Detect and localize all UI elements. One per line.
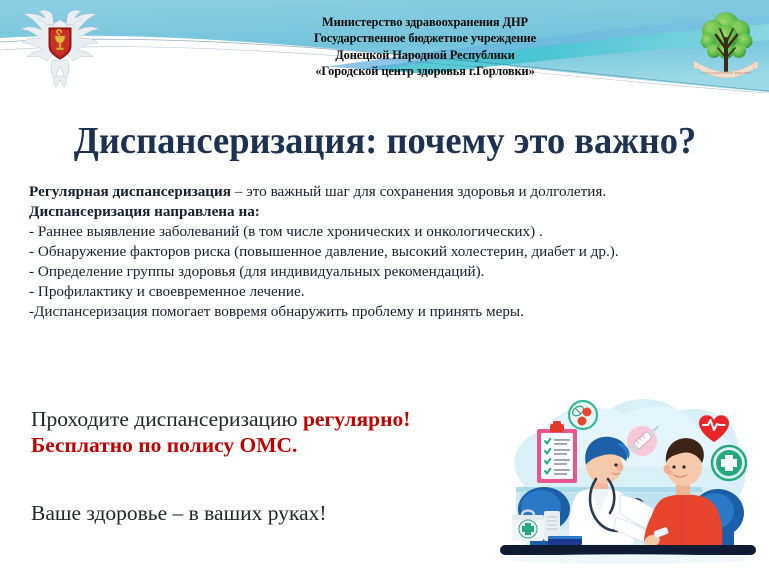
org-line-3: Донецкой Народной Республики [230, 47, 620, 63]
page-title: Диспансеризация: почему это важно? [54, 122, 716, 160]
pills-circle-icon [569, 401, 597, 429]
health-poster: Министерство здравоохранения ДНР Государ… [0, 0, 769, 569]
body-content: Регулярная диспансеризация – это важный … [29, 183, 741, 323]
book-on-desk [548, 538, 582, 545]
body-bullet: -Диспансеризация помогает вовремя обнару… [29, 303, 741, 322]
org-line-1: Министерство здравоохранения ДНР [230, 14, 620, 30]
lead-bold-text: Регулярная диспансеризация [29, 183, 231, 200]
desk-bar [500, 545, 756, 555]
clipboard-checklist-icon [537, 421, 577, 483]
body-bullet: - Определение группы здоровья (для индив… [29, 263, 741, 282]
closing-slogan: Ваше здоровье – в ваших руках! [31, 500, 501, 526]
body-subheading: Диспансеризация направлена на: [29, 203, 741, 222]
cta-line1-highlight: регулярно! [303, 407, 410, 431]
dnr-emblem-double-headed-eagle-logo [12, 4, 108, 90]
body-bullet: - Раннее выявление заболеваний (в том чи… [29, 223, 741, 242]
doctor-examining-patient-illustration [486, 389, 769, 569]
org-line-2: Государственное бюджетное учреждение [230, 30, 620, 46]
body-bullet: - Профилактику и своевременное лечение. [29, 283, 741, 302]
svg-text:ГОРОДСКОЙ ЦЕНТР ЗДОРОВЬЯ: ГОРОДСКОЙ ЦЕНТР ЗДОРОВЬЯ [701, 70, 751, 75]
cta-line-2: Бесплатно по полису ОМС. [31, 432, 501, 458]
organization-title: Министерство здравоохранения ДНР Государ… [230, 14, 620, 80]
green-medical-cross-icon [712, 446, 746, 480]
cta-line-1: Проходите диспансеризацию регулярно! [31, 406, 501, 432]
lead-paragraph: Регулярная диспансеризация – это важный … [29, 183, 741, 202]
org-line-4: «Городской центр здоровья г.Горловки» [230, 63, 620, 79]
call-to-action: Проходите диспансеризацию регулярно! Бес… [31, 406, 501, 458]
green-tree-health-center-logo: ГОРОДСКОЙ ЦЕНТР ЗДОРОВЬЯ [690, 3, 762, 91]
poster-header: Министерство здравоохранения ДНР Государ… [0, 0, 769, 95]
lead-rest-text: – это важный шаг для сохранения здоровья… [231, 183, 606, 200]
cta-line1-plain: Проходите диспансеризацию [31, 407, 303, 431]
body-bullet: - Обнаружение факторов риска (повышенное… [29, 243, 741, 262]
illustration-graphic [486, 389, 769, 569]
